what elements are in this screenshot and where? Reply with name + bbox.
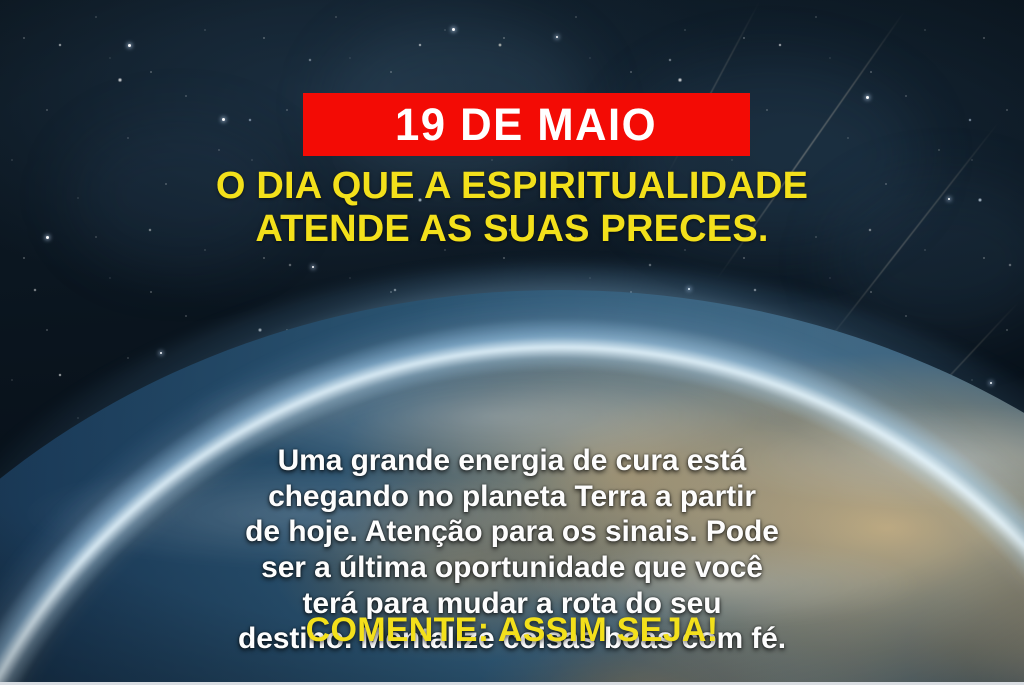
body-line-3: de hoje. Atenção para os sinais. Pode	[0, 514, 1024, 550]
headline: O DIA QUE A ESPIRITUALIDADE ATENDE AS SU…	[0, 165, 1024, 252]
body-line-1: Uma grande energia de cura está	[0, 443, 1024, 479]
poster-content: 19 DE MAIO O DIA QUE A ESPIRITUALIDADE A…	[0, 0, 1024, 685]
call-to-action-text: COMENTE: ASSIM SEJA!	[0, 613, 1024, 647]
date-banner: 19 DE MAIO	[303, 93, 750, 156]
date-banner-text: 19 DE MAIO	[396, 102, 658, 147]
body-line-2: chegando no planeta Terra a partir	[0, 479, 1024, 515]
body-line-4: ser a última oportunidade que você	[0, 550, 1024, 586]
poster-canvas: 19 DE MAIO O DIA QUE A ESPIRITUALIDADE A…	[0, 0, 1024, 685]
headline-line-1: O DIA QUE A ESPIRITUALIDADE	[0, 165, 1024, 208]
headline-line-2: ATENDE AS SUAS PRECES.	[0, 208, 1024, 251]
